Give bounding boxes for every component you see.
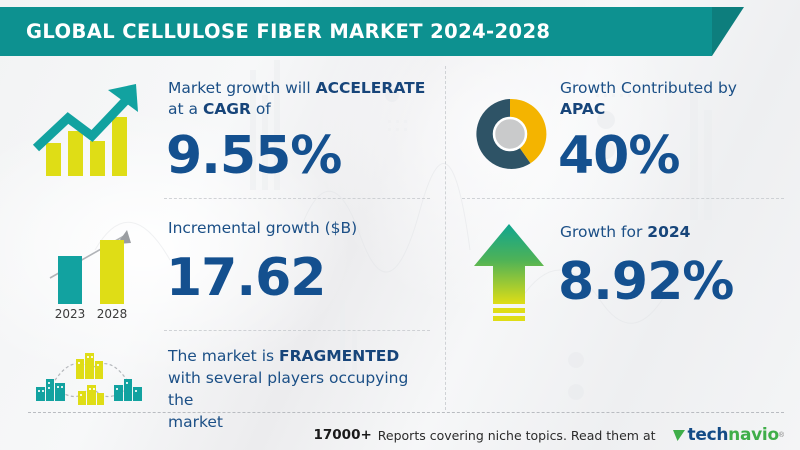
- up-arrow-icon: [468, 218, 550, 329]
- two-bar-chart-icon: 2023 2028: [28, 208, 154, 325]
- bar-label-2023: 2023: [55, 307, 86, 320]
- growth-2024-year: 2024: [647, 223, 690, 241]
- banner-fold-corner: [712, 7, 744, 56]
- divider-incremental-fragmentation: [164, 330, 430, 331]
- logo-trademark: ®: [779, 432, 784, 439]
- incremental-growth-label: Incremental growth ($B): [168, 218, 357, 239]
- technavio-logo[interactable]: technavio®: [672, 425, 784, 445]
- cagr-line1-prefix: Market growth will: [168, 79, 316, 97]
- footer-bar: 17000+ Reports covering niche topics. Re…: [0, 420, 800, 450]
- cagr-line1-strong: ACCELERATE: [316, 79, 426, 97]
- fragmentation-line2: with several players occupying the: [168, 369, 408, 409]
- divider-cagr-incremental: [164, 198, 430, 199]
- report-count: 17000+: [314, 427, 372, 443]
- bar-label-2028: 2028: [97, 307, 128, 320]
- footer-divider: [28, 412, 784, 413]
- donut-chart-icon: [472, 96, 548, 177]
- cagr-line2-prefix: at a: [168, 100, 203, 118]
- apac-line1: Growth Contributed by: [560, 78, 737, 99]
- logo-text-navio: navio: [728, 425, 779, 445]
- incremental-growth-value: 17.62: [166, 250, 325, 306]
- infographic-canvas: GLOBAL CELLULOSE FIBER MARKET 2024-2028 …: [0, 0, 800, 450]
- fragmentation-line1-prefix: The market is: [168, 347, 279, 365]
- growth-chart-arrow-icon: [30, 78, 152, 188]
- page-title: GLOBAL CELLULOSE FIBER MARKET 2024-2028: [0, 20, 550, 43]
- growth-2024-prefix: Growth for: [560, 223, 647, 241]
- header-banner: GLOBAL CELLULOSE FIBER MARKET 2024-2028: [0, 7, 712, 56]
- growth-2024-value: 8.92%: [558, 254, 733, 310]
- cagr-line2-suffix: of: [251, 100, 271, 118]
- column-divider: [445, 66, 446, 410]
- footer-message: Reports covering niche topics. Read them…: [378, 428, 656, 443]
- growth-2024-description: Growth for 2024: [560, 222, 690, 243]
- green-triangle-mark-icon: [672, 427, 686, 443]
- apac-description: Growth Contributed by APAC: [560, 78, 737, 120]
- cagr-line2-strong: CAGR: [203, 100, 251, 118]
- fragmentation-line1-strong: FRAGMENTED: [279, 347, 399, 365]
- cagr-value: 9.55%: [166, 128, 341, 184]
- logo-text-tech: tech: [688, 425, 729, 445]
- cagr-description: Market growth will ACCELERATE at a CAGR …: [168, 78, 425, 120]
- divider-apac-growth2024: [462, 198, 784, 199]
- apac-value: 40%: [558, 128, 679, 184]
- city-clusters-icon: [30, 345, 148, 412]
- apac-line2-strong: APAC: [560, 100, 605, 118]
